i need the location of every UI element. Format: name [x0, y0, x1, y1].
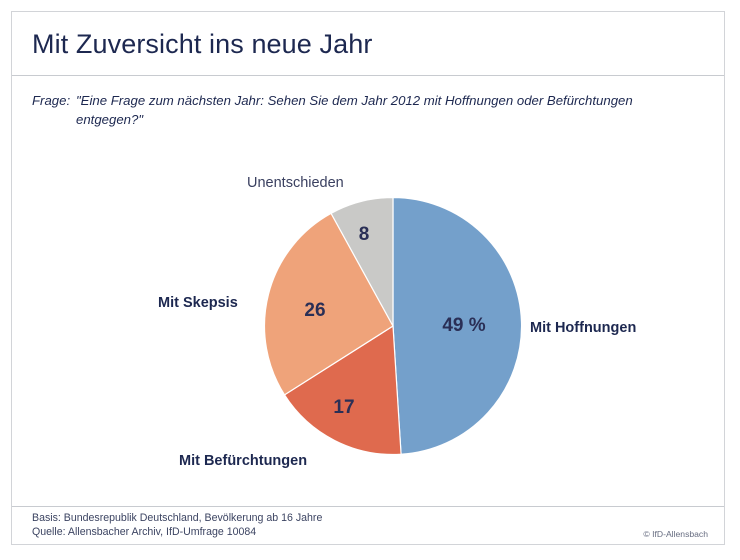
category-label-unentschieden: Unentschieden — [247, 175, 344, 191]
footer-source: Basis: Bundesrepublik Deutschland, Bevöl… — [32, 512, 322, 539]
slice-value-mit-skepsis: 26 — [304, 300, 325, 322]
slice-value-unentschieden: 8 — [359, 224, 370, 246]
slice-value-mit-hoffnungen: 49 % — [442, 315, 485, 337]
category-label-mit-hoffnungen: Mit Hoffnungen — [530, 320, 636, 336]
pie-chart-svg — [12, 12, 724, 544]
footer-divider-bottom — [12, 544, 724, 545]
slice-value-mit-befuerchtungen: 17 — [333, 397, 354, 419]
chart-frame: Mit Zuversicht ins neue Jahr Frage:"Eine… — [11, 11, 725, 545]
footer-copyright: © IfD-Allensbach — [643, 529, 708, 539]
footer-basis: Basis: Bundesrepublik Deutschland, Bevöl… — [32, 512, 322, 526]
footer-quelle: Quelle: Allensbacher Archiv, IfD-Umfrage… — [32, 526, 322, 540]
category-label-mit-skepsis: Mit Skepsis — [158, 295, 238, 311]
footer-divider-top — [12, 506, 724, 507]
category-label-mit-befuerchtungen: Mit Befürchtungen — [179, 453, 307, 469]
pie-chart: 49 % 17 26 8 Mit Hoffnungen Mit Befürcht… — [12, 12, 724, 544]
